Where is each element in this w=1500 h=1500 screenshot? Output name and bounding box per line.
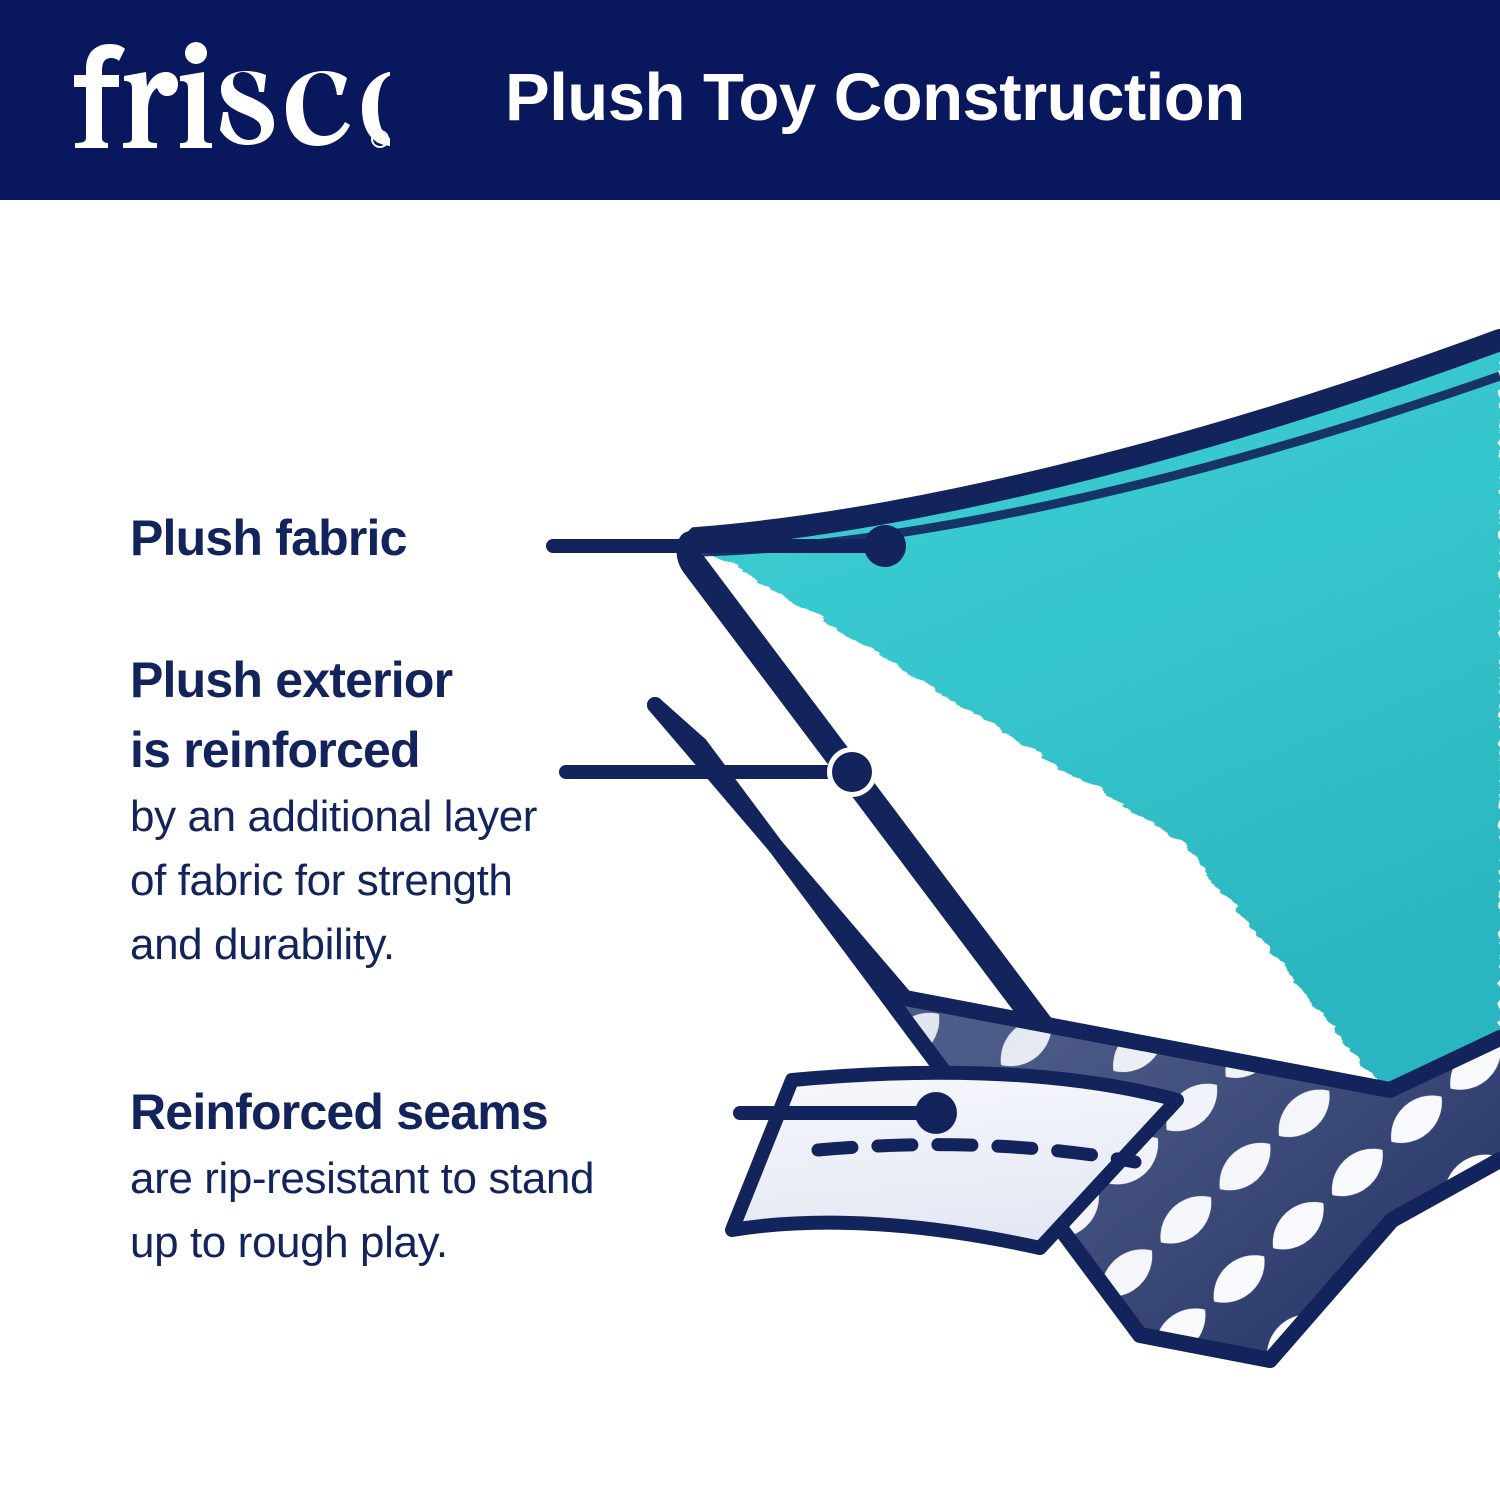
infographic-page: R Plush Toy Construction (0, 0, 1500, 1500)
callout-heading: Plush exterior is reinforced (130, 645, 537, 785)
page-title: Plush Toy Construction (505, 48, 1405, 148)
callout-heading: Reinforced seams (130, 1077, 594, 1147)
callout-plush-exterior-reinforced: Plush exterior is reinforced by an addit… (130, 645, 537, 977)
frisco-wordmark-logo: R (70, 42, 390, 152)
callout-body: by an additional layer of fabric for str… (130, 785, 537, 977)
callout-heading: Plush fabric (130, 503, 407, 573)
callout-plush-fabric: Plush fabric (130, 503, 407, 573)
callout-reinforced-seams: Reinforced seams are rip-resistant to st… (130, 1077, 594, 1275)
svg-text:R: R (376, 134, 384, 146)
header-bar: R Plush Toy Construction (0, 0, 1500, 200)
callout-body: are rip-resistant to stand up to rough p… (130, 1147, 594, 1275)
